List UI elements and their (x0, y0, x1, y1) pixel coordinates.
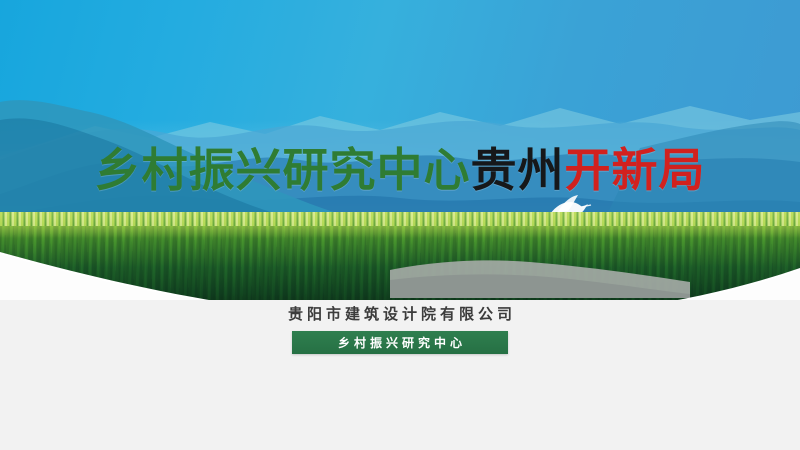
cover-slide: 乡村振兴研究中心贵州开新局 贵阳市建筑设计院有限公司 乡村振兴研究中心 (0, 0, 800, 450)
research-center-banner: 乡村振兴研究中心 (292, 331, 508, 354)
title-dark-part: 贵州 (471, 143, 565, 197)
title-green-part: 乡村振兴研究中心 (95, 143, 471, 197)
research-center-banner-label: 乡村振兴研究中心 (334, 334, 466, 351)
page-title: 乡村振兴研究中心贵州开新局 (0, 142, 800, 198)
title-red-part: 开新局 (565, 143, 706, 197)
company-name: 贵阳市建筑设计院有限公司 (0, 303, 800, 324)
